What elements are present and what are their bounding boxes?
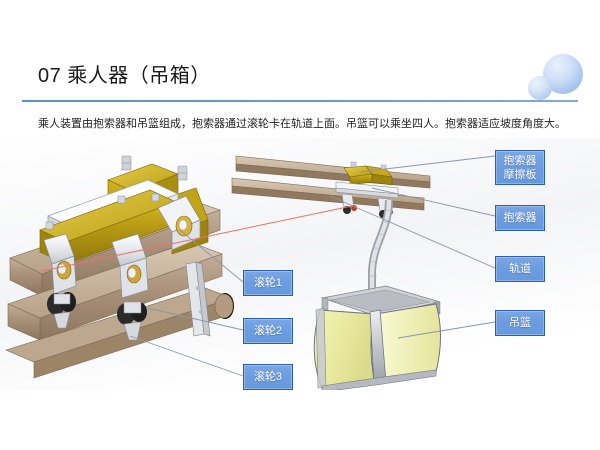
callout-friction-plate-line1: 抱索器 [504, 154, 537, 168]
callout-roller-2[interactable]: 滚轮2 [243, 318, 293, 344]
description-text: 乘人装置由抱索器和吊篮组成，抱索器通过滚轮卡在轨道上面。吊篮可以乘坐四人。抱索器… [38, 116, 578, 132]
callout-track[interactable]: 轨道 [495, 256, 545, 282]
callout-roller-1[interactable]: 滚轮1 [243, 270, 293, 296]
title-divider [22, 100, 578, 102]
callout-friction-plate[interactable]: 抱索器 摩擦板 [495, 150, 545, 185]
callout-grip[interactable]: 抱索器 [495, 205, 545, 231]
callout-friction-plate-line2: 摩擦板 [504, 168, 537, 182]
page-title: 07 乘人器（吊箱） [38, 59, 211, 88]
slide-root: 07 乘人器（吊箱） 乘人装置由抱索器和吊篮组成，抱索器通过滚轮卡在轨道上面。吊… [0, 0, 600, 450]
callout-cabin[interactable]: 吊篮 [495, 310, 545, 336]
decorative-circle-small [528, 76, 552, 100]
callout-roller-3[interactable]: 滚轮3 [243, 364, 293, 390]
